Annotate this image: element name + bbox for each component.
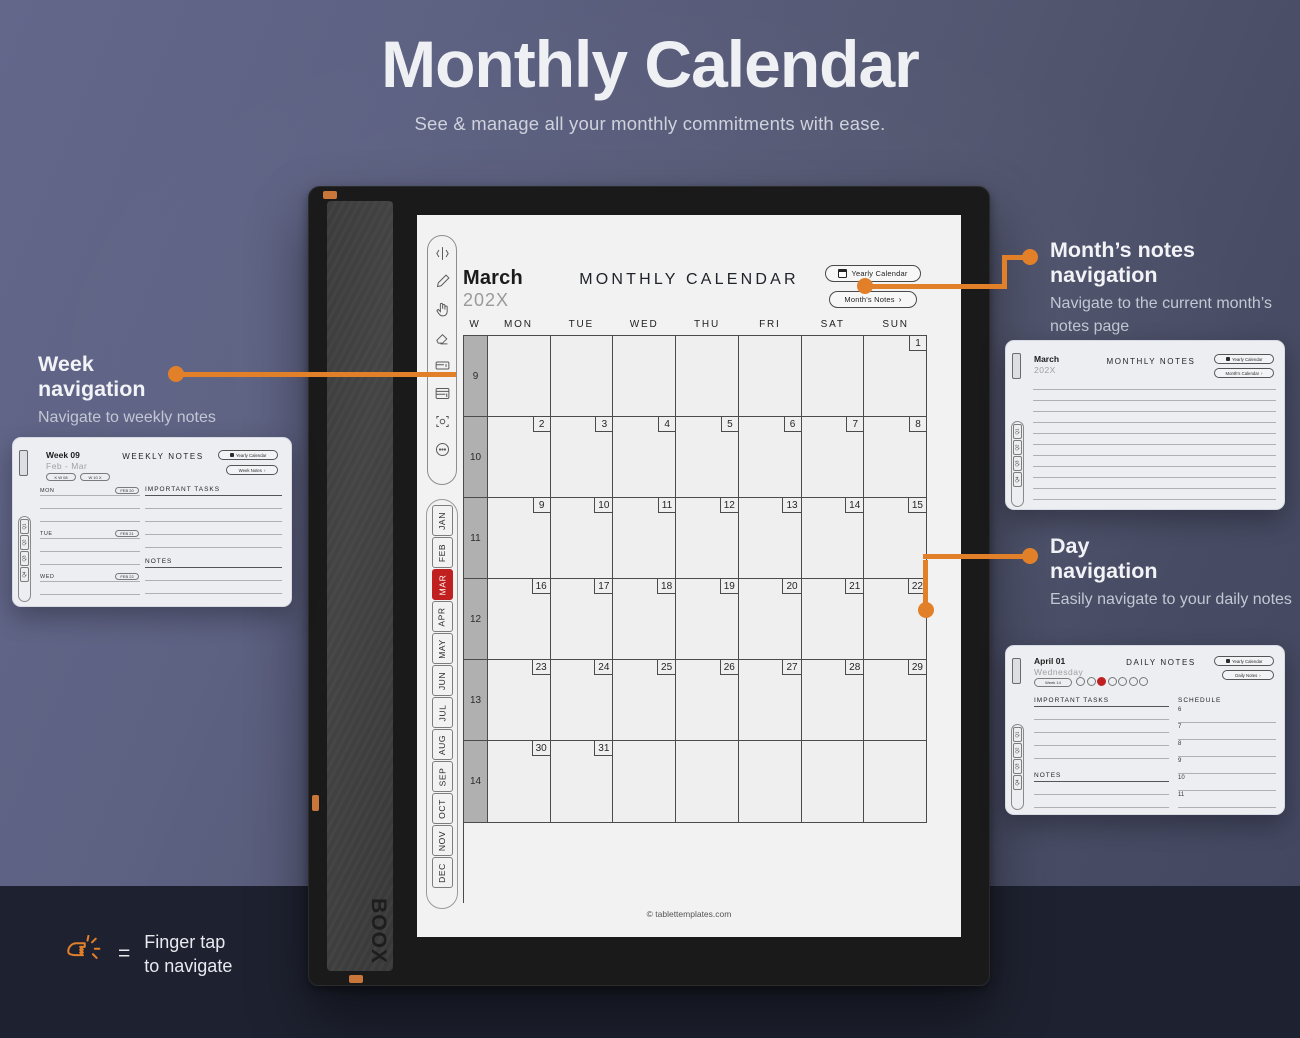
week-column-header: W — [463, 313, 487, 335]
calendar-day-cell[interactable] — [676, 336, 739, 417]
calendar-day-number[interactable]: 8 — [909, 417, 926, 432]
page-title: Monthly Calendar — [0, 26, 1300, 102]
calendar-day-cell[interactable] — [802, 741, 865, 822]
calendar-day-number — [784, 741, 801, 756]
calendar-day-cell[interactable] — [739, 336, 802, 417]
weekly-card-day-tue: TUE — [40, 531, 53, 537]
calendar-day-number[interactable]: 23 — [532, 660, 550, 675]
calendar-day-cell[interactable]: 26 — [676, 660, 739, 741]
card-spine — [1012, 353, 1021, 379]
month-tab-jun[interactable]: JUN — [432, 665, 453, 696]
calendar-day-cell[interactable]: 4 — [613, 417, 676, 498]
month-tab-dec[interactable]: DEC — [432, 857, 453, 888]
daily-card-notes-heading: NOTES — [1034, 772, 1061, 779]
calendar-day-cell[interactable]: 22 — [864, 579, 927, 660]
annotation-months-title: Month’s notes navigation — [1050, 238, 1292, 288]
boox-logo: BOOX — [348, 896, 408, 966]
calendar-icon — [1226, 659, 1231, 664]
calendar-day-cell[interactable] — [613, 741, 676, 822]
calendar-day-number[interactable]: 27 — [782, 660, 800, 675]
monthly-card-yearly-button[interactable]: Yearly Calendar — [1214, 354, 1274, 364]
calendar-day-number[interactable]: 13 — [782, 498, 800, 513]
calendar-day-number[interactable]: 25 — [657, 660, 675, 675]
week-number-cell[interactable]: 9 — [464, 336, 488, 417]
calendar-day-number — [658, 741, 675, 756]
daily-card-yearly-button[interactable]: Yearly Calendar — [1214, 656, 1274, 666]
tablet-device: BOOX — [308, 186, 990, 986]
calendar-day-number[interactable]: 20 — [782, 579, 800, 594]
week-number-cell[interactable]: 14 — [464, 741, 488, 822]
schedule-row[interactable]: 10 — [1178, 774, 1276, 791]
weekday-dot-mon[interactable] — [1076, 677, 1085, 686]
calendar-day-cell[interactable]: 1 — [864, 336, 927, 417]
calendar-day-cell[interactable]: 30 — [488, 741, 551, 822]
more-options-icon[interactable] — [433, 440, 452, 459]
daily-notes-card[interactable]: April 01 Wednesday Week 14 DAILY NOTES Y… — [1005, 645, 1285, 815]
spine-texture — [327, 201, 393, 971]
daily-card-weekday-dots — [1076, 677, 1148, 686]
week-number-cell[interactable]: 10 — [464, 417, 488, 498]
card-spine — [19, 450, 28, 476]
finger-tap-icon — [60, 935, 104, 973]
legend-text: Finger tap to navigate — [144, 930, 232, 978]
weekly-card-week-label: Week 09 — [46, 450, 80, 460]
monthly-card-quarter-rail: Q1 Q2 Q3 Q4 — [1011, 421, 1024, 507]
weekly-card-date-mon: FEB 20 — [115, 487, 139, 494]
quarter-tab-q1[interactable]: Q1 — [20, 519, 29, 534]
calendar-day-cell[interactable]: 21 — [802, 579, 865, 660]
month-tab-feb[interactable]: FEB — [432, 537, 453, 568]
weekly-card-date-tue: FEB 21 — [115, 530, 139, 537]
weekly-notes-card[interactable]: Week 09 Feb - Mar K W 08 W 10 X WEEKLY N… — [12, 437, 292, 607]
calendar-day-number[interactable]: 2 — [533, 417, 550, 432]
calendar-day-cell[interactable]: 11 — [613, 498, 676, 579]
day-nav-label-dot — [1022, 548, 1038, 564]
calendar-week-row: 119101112131415 — [464, 498, 927, 579]
calendar-day-cell[interactable]: 29 — [864, 660, 927, 741]
weekly-card-wed-lines — [40, 581, 140, 595]
week-number-cell[interactable]: 12 — [464, 579, 488, 660]
annotation-months-description: Navigate to the current month’s notes pa… — [1050, 293, 1292, 338]
month-tab-mar[interactable]: MAR — [432, 569, 453, 600]
weekly-card-quarter-rail: Q1 Q2 Q3 Q4 — [18, 516, 31, 602]
calendar-day-number — [784, 336, 801, 351]
week-number-cell[interactable]: 13 — [464, 660, 488, 741]
month-tab-may[interactable]: MAY — [432, 633, 453, 664]
months-notes-connector-horizontal — [865, 284, 1007, 289]
months-notes-label: Month's Notes — [844, 295, 894, 304]
calendar-week-row: 1216171819202122 — [464, 579, 927, 660]
quarter-tab-q1[interactable]: Q1 — [1013, 424, 1022, 439]
quarter-tab-q3[interactable]: Q3 — [1013, 456, 1022, 471]
month-tab-sep[interactable]: SEP — [432, 761, 453, 792]
weekly-card-tasks-heading: IMPORTANT TASKS — [145, 486, 220, 493]
weekly-card-notes-button[interactable]: Week Notes › — [226, 465, 278, 475]
annotation-day-navigation: Day navigation Easily navigate to your d… — [1050, 534, 1292, 612]
quarter-tab-q4[interactable]: Q4 — [20, 567, 29, 582]
weekly-card-day-wed: WED — [40, 574, 54, 580]
annotation-months-title-line1: Month’s notes — [1050, 238, 1292, 263]
weekly-card-yearly-button[interactable]: Yearly Calendar — [218, 450, 278, 460]
calendar-icon — [230, 453, 235, 458]
calendar-day-cell[interactable]: 14 — [802, 498, 865, 579]
tablet-screen: JAN FEB MAR APR MAY JUN JUL AUG SEP OCT … — [417, 215, 961, 937]
calendar-day-cell[interactable] — [551, 336, 614, 417]
daily-card-tasks-heading: IMPORTANT TASKS — [1034, 697, 1109, 704]
calendar-day-number[interactable]: 28 — [845, 660, 863, 675]
calendar-day-cell[interactable]: 20 — [739, 579, 802, 660]
eraser-icon[interactable] — [433, 328, 452, 347]
calendar-day-cell[interactable]: 18 — [613, 579, 676, 660]
calendar-week-row: 91 — [464, 336, 927, 417]
monthly-notes-card[interactable]: March 202X MONTHLY NOTES Yearly Calendar… — [1005, 340, 1285, 510]
month-tab-nov[interactable]: NOV — [432, 825, 453, 856]
calendar-day-cell[interactable] — [613, 336, 676, 417]
hinge-accent-bottom — [349, 975, 363, 983]
chevron-right-icon: › — [264, 468, 265, 473]
weekly-card-mon-lines — [40, 495, 140, 522]
calendar-week-rows: 9110234567811910111213141512161718192021… — [463, 335, 927, 903]
annotation-months-title-line2: navigation — [1050, 263, 1292, 288]
chevron-right-icon: › — [1261, 371, 1262, 376]
calendar-day-number — [846, 336, 863, 351]
monthly-card-month: March — [1034, 354, 1059, 364]
calendar-day-number — [595, 336, 612, 351]
calendar-day-number[interactable]: 19 — [720, 579, 738, 594]
calendar-day-number[interactable]: 18 — [657, 579, 675, 594]
calendar-day-cell[interactable]: 6 — [739, 417, 802, 498]
screenshot-icon[interactable] — [433, 412, 452, 431]
months-notes-label-dot — [1022, 249, 1038, 265]
weekly-card-date-wed: FEB 22 — [115, 573, 139, 580]
weekday-header-thu: THU — [676, 313, 739, 335]
weekday-header-mon: MON — [487, 313, 550, 335]
calendar-day-number — [721, 741, 738, 756]
calendar-icon — [838, 269, 847, 278]
calendar-icon — [1226, 357, 1231, 362]
calendar-day-cell[interactable]: 3 — [551, 417, 614, 498]
page-subtitle: See & manage all your monthly commitment… — [0, 113, 1300, 135]
card-spine — [1012, 658, 1021, 684]
annotation-months-notes: Month’s notes navigation Navigate to the… — [1050, 238, 1292, 338]
calendar-day-number[interactable]: 30 — [532, 741, 550, 756]
weekly-card-tasks-lines — [145, 495, 282, 548]
calendar-day-number[interactable]: 6 — [784, 417, 801, 432]
calendar-day-cell[interactable]: 12 — [676, 498, 739, 579]
calendar-week-row: 1323242526272829 — [464, 660, 927, 741]
calendar-day-number[interactable]: 26 — [720, 660, 738, 675]
yearly-calendar-button[interactable]: Yearly Calendar — [825, 265, 921, 282]
legend-finger-tap: = Finger tap to navigate — [60, 930, 232, 978]
annotation-day-title: Day navigation — [1050, 534, 1292, 584]
weekday-dot-fri[interactable] — [1118, 677, 1127, 686]
chevron-right-icon: › — [1259, 673, 1260, 678]
hinge-accent-middle — [312, 795, 319, 811]
weekly-card-tue-lines — [40, 538, 140, 565]
calendar-day-cell[interactable]: 25 — [613, 660, 676, 741]
weekly-card-next-week-pill[interactable]: W 10 X — [80, 473, 110, 481]
weekly-card-prev-week-pill[interactable]: K W 08 — [46, 473, 76, 481]
annotation-week-title-line1: Week — [38, 352, 268, 377]
calendar-day-cell[interactable]: 5 — [676, 417, 739, 498]
calendar-header: March 202X MONTHLY CALENDAR Yearly Calen… — [417, 215, 961, 305]
calendar-day-number[interactable]: 4 — [658, 417, 675, 432]
schedule-row[interactable]: 9 — [1178, 757, 1276, 774]
schedule-row[interactable]: 8 — [1178, 740, 1276, 757]
quarter-tab-q4[interactable]: Q4 — [1013, 775, 1022, 790]
chevron-right-icon: › — [899, 296, 902, 304]
weekday-header-sun: SUN — [864, 313, 927, 335]
calendar-day-number[interactable]: 17 — [594, 579, 612, 594]
calendar-day-number[interactable]: 1 — [909, 336, 926, 351]
day-nav-connector-vertical — [923, 560, 928, 608]
monthly-card-title: MONTHLY NOTES — [1086, 357, 1216, 366]
quarter-tab-q4[interactable]: Q4 — [1013, 472, 1022, 487]
weekday-dot-tue[interactable] — [1087, 677, 1096, 686]
calendar-day-cell[interactable]: 2 — [488, 417, 551, 498]
weekday-header-fri: FRI — [738, 313, 801, 335]
calendar-day-number[interactable]: 24 — [594, 660, 612, 675]
calendar-day-cell[interactable] — [864, 741, 927, 822]
weekly-card-title: WEEKLY NOTES — [103, 452, 223, 461]
weekday-dot-wed[interactable] — [1097, 677, 1106, 686]
legend-line-2: to navigate — [144, 954, 232, 978]
calendar-grid: W MON TUE WED THU FRI SAT SUN 9110234567… — [463, 313, 927, 903]
quarter-tab-q2[interactable]: Q2 — [20, 535, 29, 550]
calendar-day-number — [533, 336, 550, 351]
monthly-card-year: 202X — [1034, 365, 1056, 375]
calendar-footer: © tablettemplates.com — [417, 909, 961, 919]
weekly-card-day-mon: MON — [40, 488, 54, 494]
calendar-day-number[interactable]: 10 — [594, 498, 612, 513]
calendar-day-number — [909, 741, 926, 756]
calendar-day-number[interactable]: 14 — [845, 498, 863, 513]
notebook-icon[interactable] — [433, 384, 452, 403]
calendar-day-cell[interactable]: 15 — [864, 498, 927, 579]
calendar-day-cell[interactable] — [802, 336, 865, 417]
daily-card-tasks-lines — [1034, 706, 1169, 759]
calendar-day-number[interactable]: 15 — [908, 498, 926, 513]
calendar-day-number[interactable]: 5 — [721, 417, 738, 432]
calendar-day-number[interactable]: 12 — [720, 498, 738, 513]
month-tab-apr[interactable]: APR — [432, 601, 453, 632]
calendar-week-row: 143031 — [464, 741, 927, 822]
calendar-day-cell[interactable]: 19 — [676, 579, 739, 660]
quarter-tab-q2[interactable]: Q2 — [1013, 743, 1022, 758]
daily-card-date: April 01 — [1034, 656, 1065, 666]
annotation-day-title-line1: Day — [1050, 534, 1292, 559]
daily-card-notes-lines — [1034, 781, 1169, 808]
calendar-day-number — [846, 741, 863, 756]
calendar-day-cell[interactable]: 13 — [739, 498, 802, 579]
weekday-dot-sat[interactable] — [1129, 677, 1138, 686]
month-tab-oct[interactable]: OCT — [432, 793, 453, 824]
months-notes-button[interactable]: Month's Notes › — [829, 291, 917, 308]
annotation-day-description: Easily navigate to your daily notes — [1050, 589, 1292, 612]
calendar-day-cell[interactable]: 23 — [488, 660, 551, 741]
calendar-day-cell[interactable] — [739, 741, 802, 822]
daily-card-quarter-rail: Q1 Q2 Q3 Q4 — [1011, 724, 1024, 810]
yearly-calendar-label: Yearly Calendar — [851, 269, 907, 278]
schedule-row[interactable]: 6 — [1178, 706, 1276, 723]
quarter-tab-q2[interactable]: Q2 — [1013, 440, 1022, 455]
calendar-day-cell[interactable] — [488, 336, 551, 417]
daily-card-notes-button[interactable]: Daily Notes › — [1222, 670, 1274, 680]
monthly-card-notes-button[interactable]: Month's Calendar › — [1214, 368, 1274, 378]
calendar-year-label: 202X — [463, 290, 509, 311]
calendar-day-number — [658, 336, 675, 351]
weekday-header-tue: TUE — [550, 313, 613, 335]
schedule-row[interactable]: 11 — [1178, 791, 1276, 808]
quarter-tab-q1[interactable]: Q1 — [1013, 727, 1022, 742]
calendar-day-cell[interactable]: 27 — [739, 660, 802, 741]
quarter-tab-q3[interactable]: Q3 — [20, 551, 29, 566]
weekday-header-row: W MON TUE WED THU FRI SAT SUN — [463, 313, 927, 335]
annotation-week-navigation: Week navigation Navigate to weekly notes — [38, 352, 268, 430]
calendar-day-number[interactable]: 9 — [533, 498, 550, 513]
weekday-dot-thu[interactable] — [1108, 677, 1117, 686]
annotation-week-title: Week navigation — [38, 352, 268, 402]
hinge-accent-top — [323, 191, 337, 199]
daily-card-week-pill[interactable]: Week 14 — [1034, 678, 1072, 687]
calendar-day-cell[interactable]: 17 — [551, 579, 614, 660]
daily-card-schedule-rows: 67891011 — [1178, 706, 1276, 808]
calendar-day-cell[interactable]: 9 — [488, 498, 551, 579]
annotation-week-title-line2: navigation — [38, 377, 268, 402]
daily-card-title: DAILY NOTES — [1106, 658, 1216, 667]
monthly-card-note-lines — [1033, 389, 1276, 500]
weekday-dot-sun[interactable] — [1139, 677, 1148, 686]
calendar-day-cell[interactable]: 28 — [802, 660, 865, 741]
calendar-day-number[interactable]: 7 — [846, 417, 863, 432]
annotation-week-description: Navigate to weekly notes — [38, 407, 268, 430]
weekday-header-sat: SAT — [801, 313, 864, 335]
calendar-day-number[interactable]: 3 — [595, 417, 612, 432]
calendar-day-cell[interactable] — [676, 741, 739, 822]
annotation-day-title-line2: navigation — [1050, 559, 1292, 584]
legend-equals: = — [118, 942, 130, 966]
calendar-day-number — [721, 336, 738, 351]
daily-card-schedule-heading: SCHEDULE — [1178, 697, 1221, 704]
month-tab-jul[interactable]: JUL — [432, 697, 453, 728]
weekly-card-notes-lines — [145, 567, 282, 607]
calendar-day-cell[interactable]: 16 — [488, 579, 551, 660]
calendar-day-cell[interactable]: 24 — [551, 660, 614, 741]
quarter-tab-q3[interactable]: Q3 — [1013, 759, 1022, 774]
calendar-day-cell[interactable]: 7 — [802, 417, 865, 498]
legend-line-1: Finger tap — [144, 930, 232, 954]
calendar-week-row: 102345678 — [464, 417, 927, 498]
calendar-day-number[interactable]: 11 — [658, 498, 675, 513]
months-notes-connector-vertical — [1002, 257, 1007, 288]
calendar-day-number[interactable]: 31 — [594, 741, 612, 756]
month-tab-aug[interactable]: AUG — [432, 729, 453, 760]
calendar-day-cell[interactable]: 8 — [864, 417, 927, 498]
calendar-day-number[interactable]: 21 — [845, 579, 863, 594]
day-nav-connector-horizontal — [923, 554, 1030, 559]
weekday-header-wed: WED — [613, 313, 676, 335]
calendar-day-cell[interactable]: 31 — [551, 741, 614, 822]
week-number-cell[interactable]: 11 — [464, 498, 488, 579]
schedule-row[interactable]: 7 — [1178, 723, 1276, 740]
calendar-day-number[interactable]: 29 — [908, 660, 926, 675]
daily-card-weekday: Wednesday — [1034, 667, 1083, 677]
device-spine: BOOX — [327, 201, 393, 971]
calendar-day-number[interactable]: 16 — [532, 579, 550, 594]
calendar-day-cell[interactable]: 10 — [551, 498, 614, 579]
weekly-card-range: Feb - Mar — [46, 461, 87, 471]
month-tabs-rail: JAN FEB MAR APR MAY JUN JUL AUG SEP OCT … — [426, 499, 458, 909]
month-tab-jan[interactable]: JAN — [432, 505, 453, 536]
weekly-card-notes-heading: NOTES — [145, 558, 172, 565]
